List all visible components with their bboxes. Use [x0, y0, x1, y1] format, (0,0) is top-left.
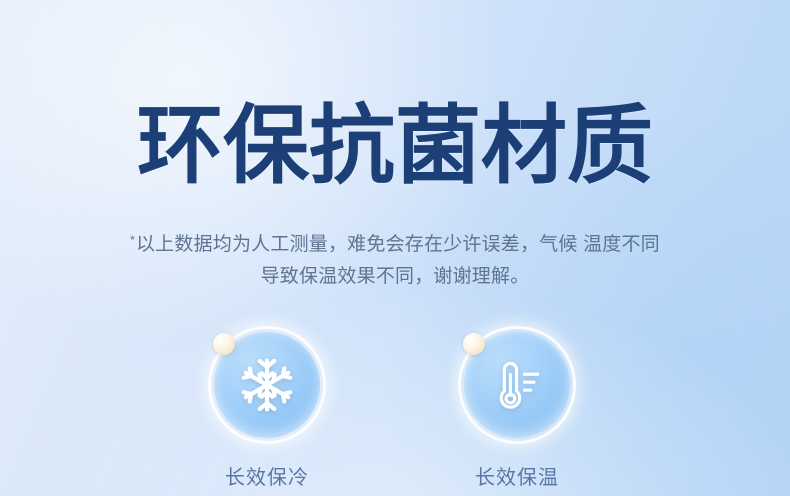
asterisk-marker: *	[130, 233, 135, 247]
feature-badge-warm	[458, 326, 576, 444]
feature-badge-cold	[208, 326, 326, 444]
disclaimer-text: *以上数据均为人工测量，难免会存在少许误差，气候 温度不同 导致保温效果不同，谢…	[0, 224, 790, 293]
promo-poster: 环保抗菌材质 *以上数据均为人工测量，难免会存在少许误差，气候 温度不同 导致保…	[0, 0, 790, 496]
disclaimer-line-1: 以上数据均为人工测量，难免会存在少许误差，气候 温度不同	[136, 234, 660, 255]
feature-list: 长效保冷	[0, 326, 790, 496]
feature-label-warm: 长效保温	[437, 461, 597, 490]
feature-label-cold: 长效保冷	[187, 461, 347, 490]
feature-item-cold: 长效保冷	[187, 326, 347, 490]
snowflake-icon	[208, 326, 326, 444]
disclaimer-line-2: 导致保温效果不同，谢谢理解。	[0, 261, 790, 293]
feature-item-warm: 长效保温	[437, 326, 597, 490]
page-title: 环保抗菌材质	[0, 103, 790, 189]
thermometer-icon	[458, 326, 576, 444]
